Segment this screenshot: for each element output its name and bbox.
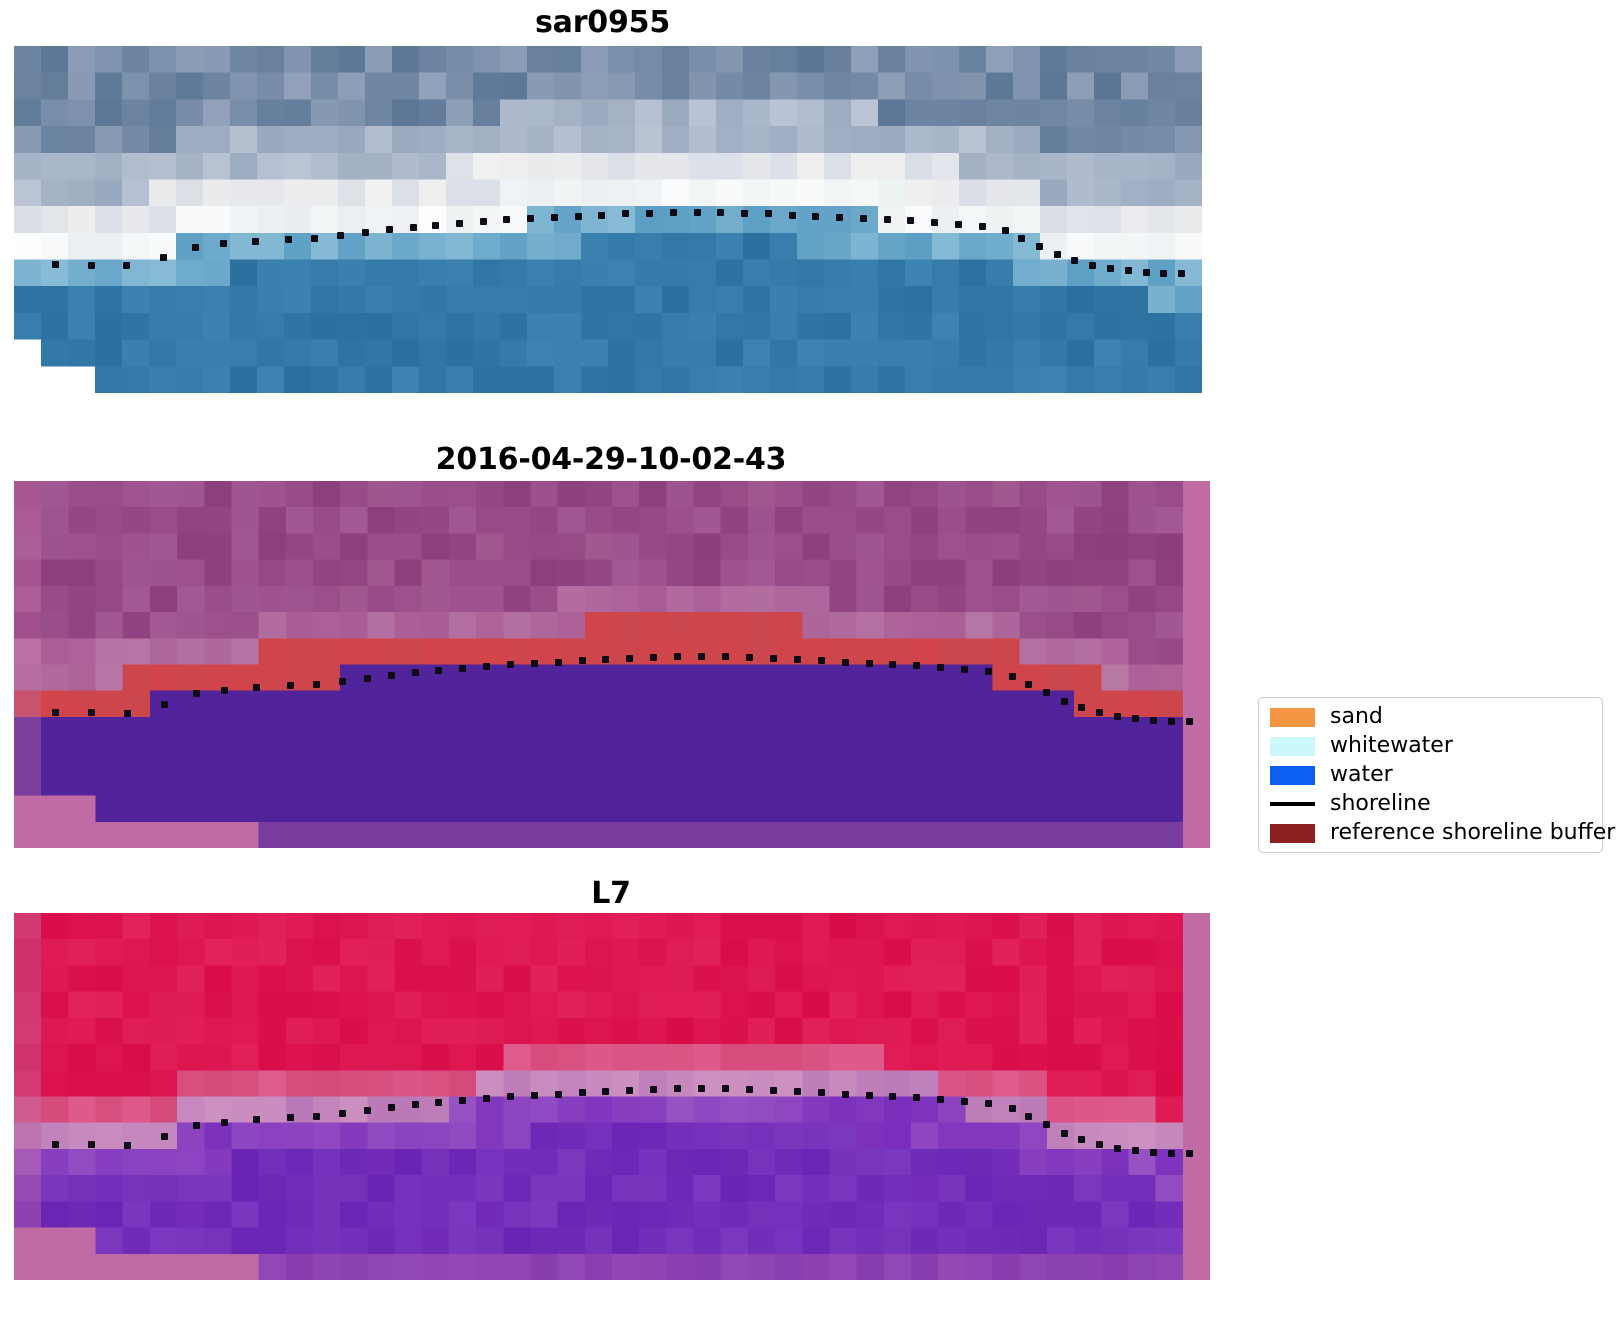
panel-title-sar: sar0955 xyxy=(0,5,1205,40)
whitewater-color-swatch xyxy=(1270,737,1315,756)
panel-index-image[interactable] xyxy=(14,913,1210,1280)
legend-label-water: water xyxy=(1330,764,1393,786)
legend-label-whitewater: whitewater xyxy=(1330,735,1453,757)
shoreline-line-icon xyxy=(1270,802,1315,806)
shoreline-line-swatch xyxy=(1270,795,1315,814)
legend-item-whitewater[interactable]: whitewater xyxy=(1270,731,1595,761)
panel-title-satellite: L7 xyxy=(0,876,1222,911)
panel-rgb-image[interactable] xyxy=(14,46,1202,393)
legend-item-shoreline[interactable]: shoreline xyxy=(1270,789,1595,819)
legend-label-reference-buffer: reference shoreline buffer xyxy=(1330,822,1615,844)
legend-item-sand[interactable]: sand xyxy=(1270,702,1595,732)
classification-raster xyxy=(14,481,1210,848)
index-raster xyxy=(14,913,1210,1280)
legend-box[interactable]: sand whitewater water shoreline referenc… xyxy=(1258,697,1603,853)
legend-label-shoreline: shoreline xyxy=(1330,793,1431,815)
legend-item-water[interactable]: water xyxy=(1270,760,1595,790)
panel-title-date: 2016-04-29-10-02-43 xyxy=(0,442,1222,477)
panel-classification[interactable] xyxy=(14,481,1210,848)
rgb-raster xyxy=(14,46,1202,393)
reference-shoreline-buffer-color-swatch xyxy=(1270,824,1315,843)
figure-canvas: sar0955 2016-04-29-10-02-43 L7 sand whit… xyxy=(0,0,1618,1337)
sand-color-swatch xyxy=(1270,708,1315,727)
legend-item-reference-buffer[interactable]: reference shoreline buffer xyxy=(1270,818,1595,848)
water-color-swatch xyxy=(1270,766,1315,785)
legend-label-sand: sand xyxy=(1330,706,1383,728)
